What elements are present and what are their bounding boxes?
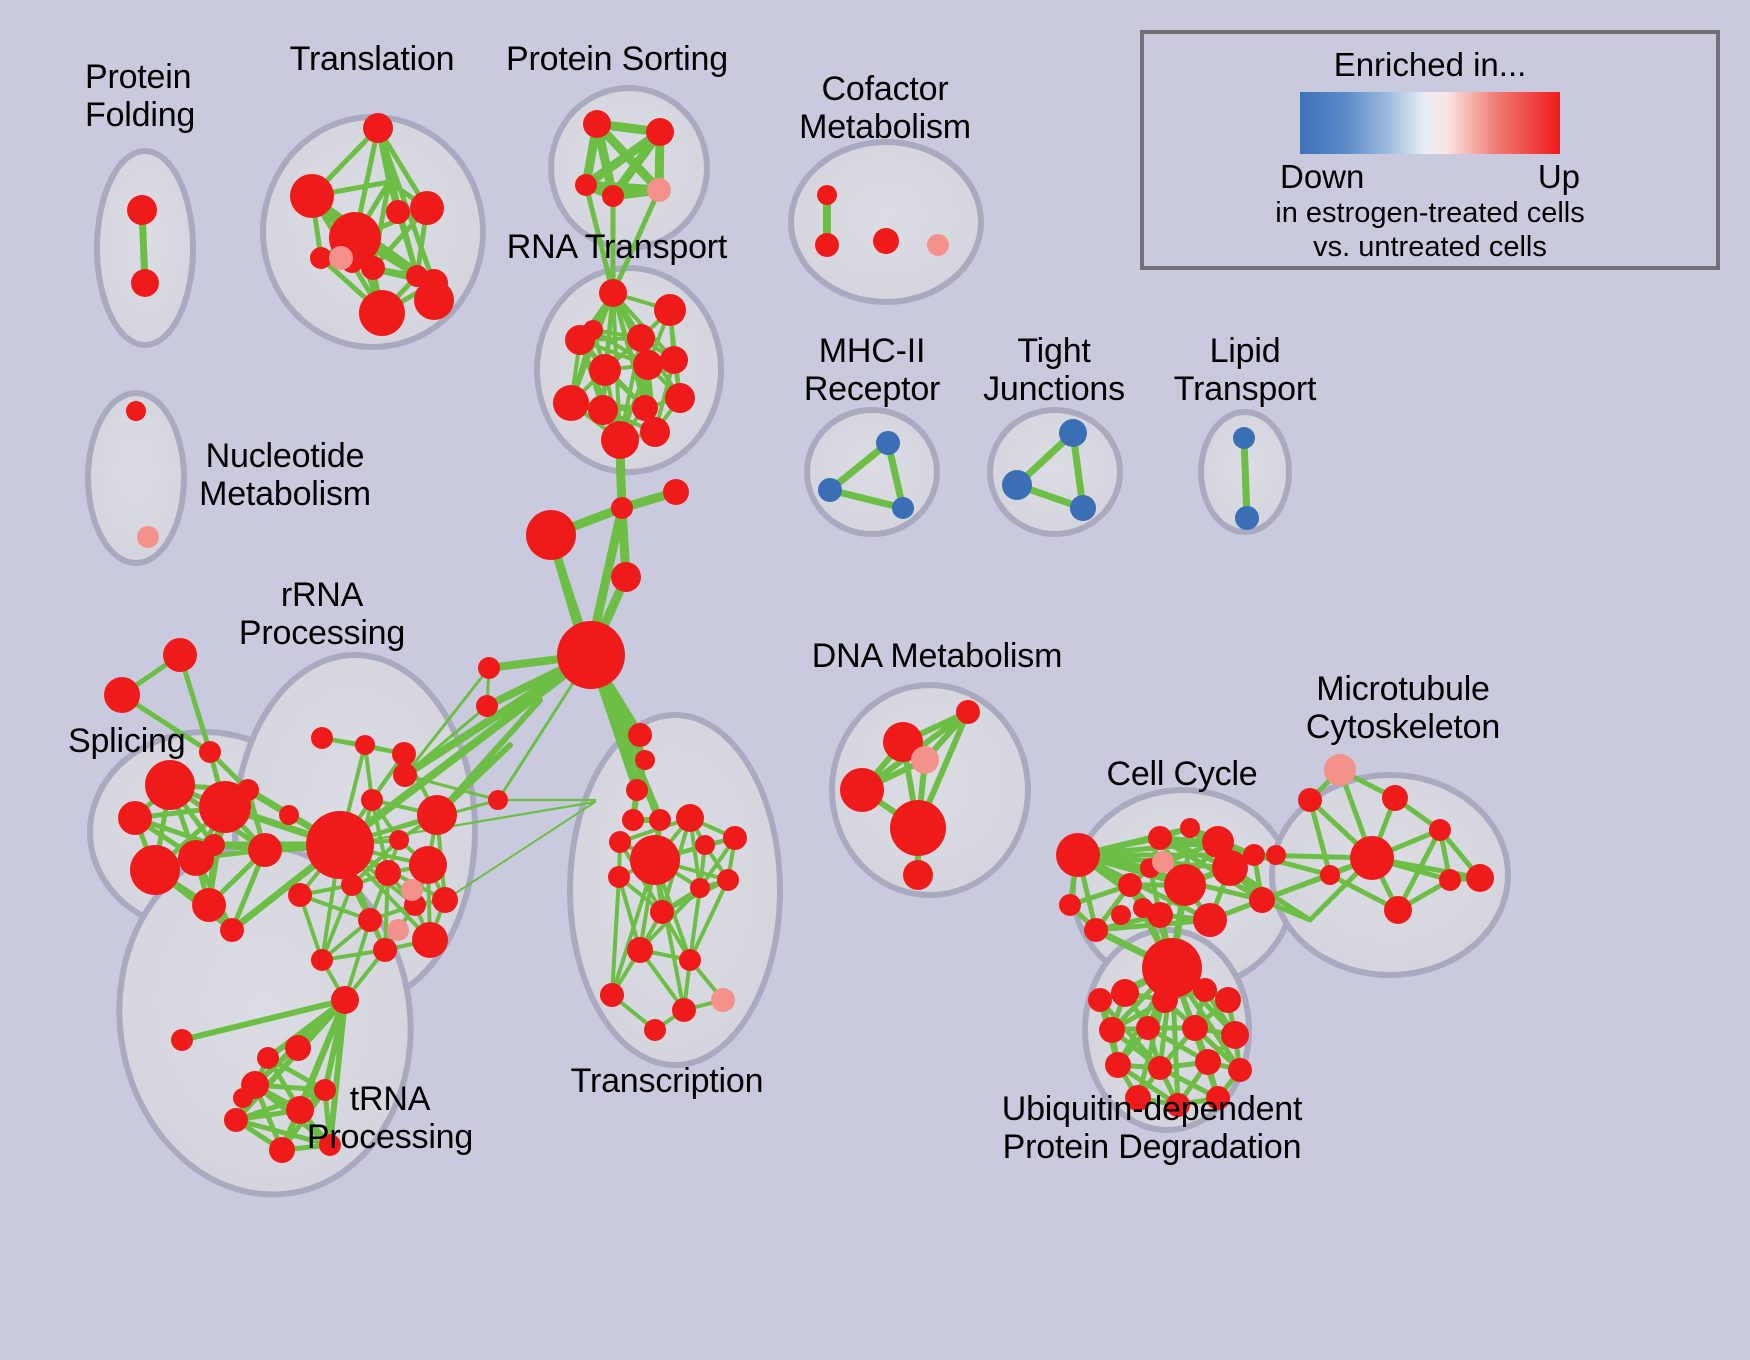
- enrichment-map-figure: ProteinFolding Translation Protein Sorti…: [0, 0, 1750, 1360]
- label-microtubule-cytoskeleton: MicrotubuleCytoskeleton: [1306, 670, 1500, 746]
- label-nucleotide-metabolism: NucleotideMetabolism: [199, 437, 371, 513]
- legend-gradient-bar: [1300, 92, 1560, 154]
- legend-subtitle-line1: in estrogen-treated cells: [1275, 197, 1585, 230]
- halo-mhcii: [807, 410, 937, 534]
- legend-title: Enriched in...: [1334, 46, 1527, 84]
- label-cell-cycle: Cell Cycle: [1106, 755, 1257, 793]
- label-rrna-processing: rRNAProcessing: [239, 576, 405, 652]
- label-transcription: Transcription: [571, 1062, 764, 1100]
- halo-tight-junctions: [990, 410, 1120, 534]
- color-legend: Enriched in... Down Up in estrogen-treat…: [1140, 30, 1720, 270]
- legend-up-label: Up: [1538, 158, 1580, 196]
- label-protein-sorting: Protein Sorting: [506, 40, 728, 78]
- label-protein-folding: ProteinFolding: [85, 58, 195, 134]
- label-splicing: Splicing: [68, 722, 185, 760]
- label-cofactor-metabolism: CofactorMetabolism: [799, 70, 971, 146]
- legend-endpoints: Down Up: [1280, 158, 1580, 196]
- label-lipid-transport: LipidTransport: [1174, 332, 1316, 408]
- label-ubiquitin-protein-degradation: Ubiquitin-dependentProtein Degradation: [1002, 1090, 1303, 1166]
- legend-subtitle-line2: vs. untreated cells: [1313, 231, 1547, 264]
- legend-down-label: Down: [1280, 158, 1364, 196]
- label-dna-metabolism: DNA Metabolism: [812, 637, 1062, 675]
- label-mhc-ii-receptor: MHC-IIReceptor: [804, 332, 940, 408]
- label-tight-junctions: TightJunctions: [983, 332, 1125, 408]
- label-translation: Translation: [290, 40, 455, 78]
- label-rna-transport: RNA Transport: [507, 228, 727, 266]
- label-trna-processing: tRNAProcessing: [307, 1080, 473, 1156]
- halo-cofactor: [791, 142, 981, 302]
